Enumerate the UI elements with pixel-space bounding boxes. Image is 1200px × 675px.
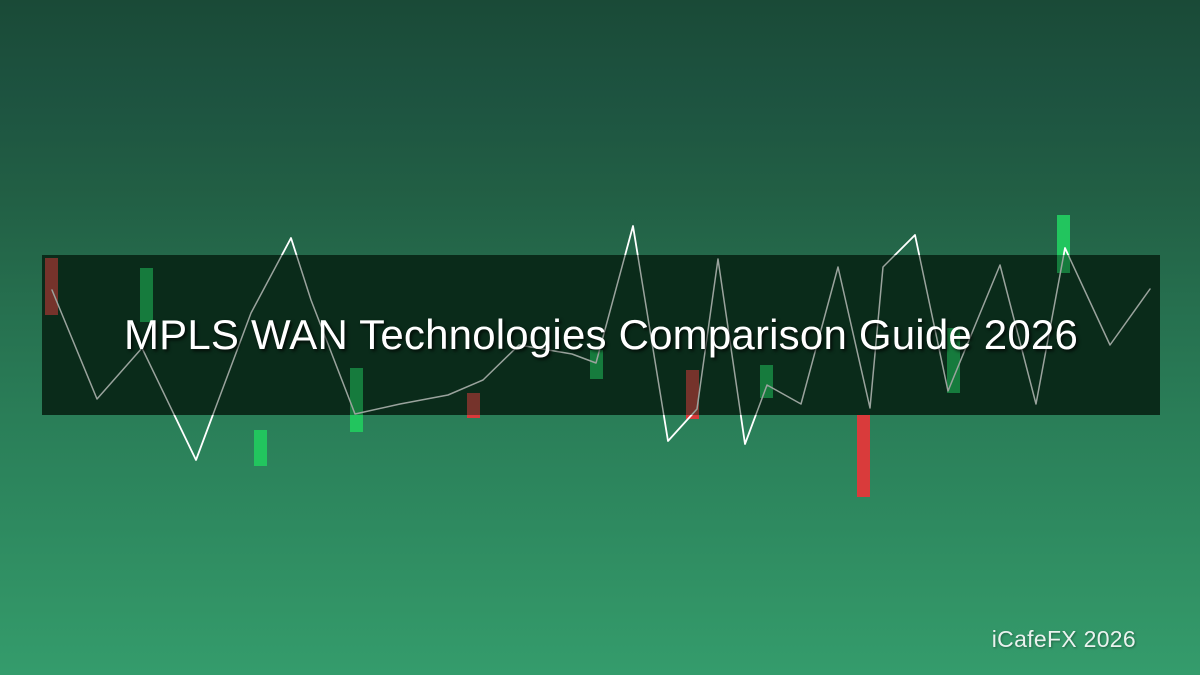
candle-down xyxy=(686,370,699,419)
candle-up xyxy=(140,268,153,322)
candle-up xyxy=(947,328,960,393)
watermark: iCafeFX 2026 xyxy=(992,626,1136,653)
band-dimmed-artwork xyxy=(42,215,1160,497)
candle-down xyxy=(857,415,870,497)
candle-up xyxy=(590,350,603,379)
candlestick-chart xyxy=(0,0,1200,675)
candle-down xyxy=(45,258,58,315)
candle-up xyxy=(254,430,267,466)
title-band-fill xyxy=(42,255,1160,415)
title-card: MPLS WAN Technologies Comparison Guide 2… xyxy=(0,0,1200,675)
candle-down xyxy=(467,393,480,418)
candle-up xyxy=(760,365,773,398)
